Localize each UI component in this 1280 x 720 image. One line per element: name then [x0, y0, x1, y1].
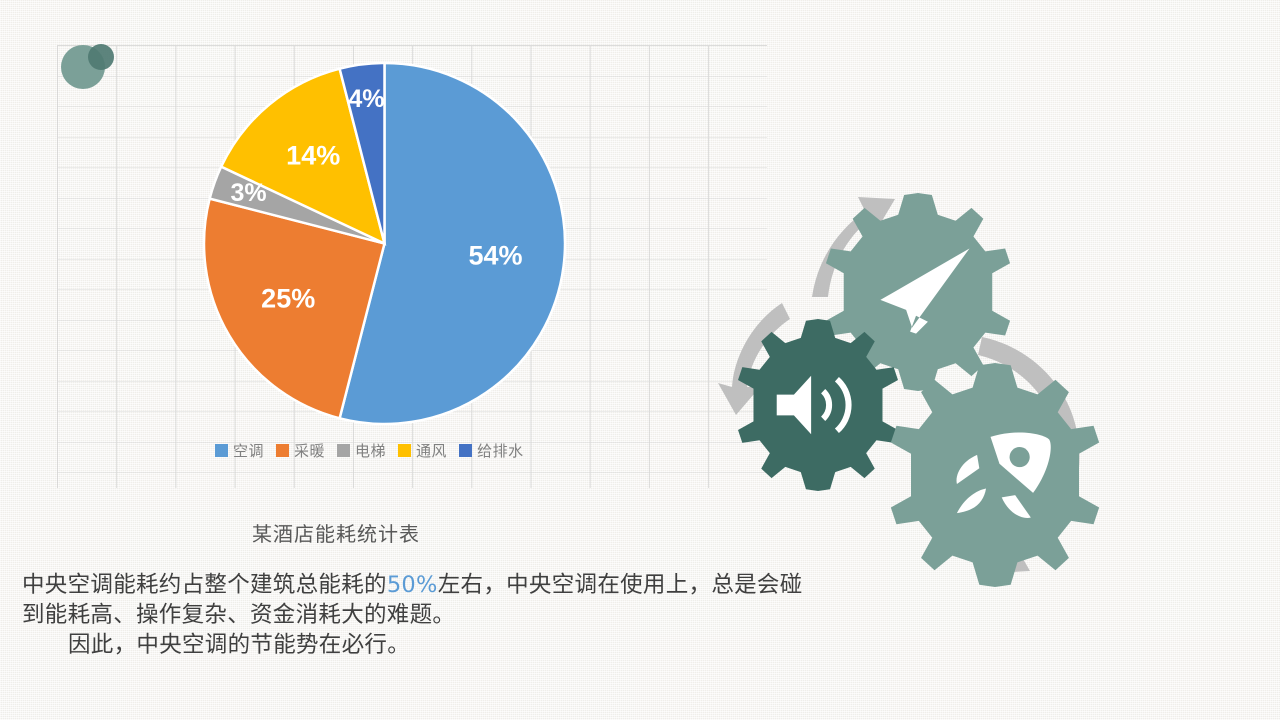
slide-canvas: 54% 25% 3% 14% 4% 空调 采暖 电梯 通风 给排水: [0, 0, 1280, 720]
legend-label: 通风: [416, 440, 447, 461]
gears-illustration: [690, 175, 1140, 635]
legend-label: 给排水: [477, 440, 524, 461]
logo: [58, 41, 116, 91]
legend-swatch-icon: [398, 444, 411, 457]
pie-label-2: 25%: [261, 284, 315, 314]
gears-svg: [690, 175, 1140, 635]
legend-item-tongfeng[interactable]: 通风: [398, 440, 447, 461]
legend-swatch-icon: [276, 444, 289, 457]
legend-item-jipaishui[interactable]: 给排水: [459, 440, 524, 461]
legend-label: 电梯: [355, 440, 386, 461]
legend-item-kongtiao[interactable]: 空调: [215, 440, 264, 461]
legend-swatch-icon: [215, 444, 228, 457]
legend-swatch-icon: [459, 444, 472, 457]
legend-label: 空调: [233, 440, 264, 461]
body-highlight-50pct: 50%: [387, 572, 438, 598]
chart-caption: 某酒店能耗统计表: [252, 518, 420, 547]
body-line2: 到能耗高、操作复杂、资金消耗大的难题。: [22, 602, 455, 628]
pie-label-3: 3%: [231, 179, 267, 207]
pie-chart: 54% 25% 3% 14% 4%: [203, 62, 566, 425]
legend-item-dianti[interactable]: 电梯: [337, 440, 386, 461]
body-line1-part-a: 中央空调能耗约占整个建筑总能耗的: [22, 572, 387, 598]
legend-item-cainuan[interactable]: 采暖: [276, 440, 325, 461]
gear-rocket: [891, 363, 1099, 587]
body-line3: 因此，中央空调的节能势在必行。: [68, 632, 410, 658]
logo-circles-icon: [58, 41, 116, 91]
chart-legend: 空调 采暖 电梯 通风 给排水: [215, 440, 524, 461]
pie-label-1: 54%: [468, 241, 522, 271]
legend-swatch-icon: [337, 444, 350, 457]
pie-label-4: 14%: [286, 140, 340, 170]
legend-label: 采暖: [294, 440, 325, 461]
pie-chart-svg: 54% 25% 3% 14% 4%: [203, 62, 566, 425]
pie-label-5: 4%: [348, 85, 384, 113]
